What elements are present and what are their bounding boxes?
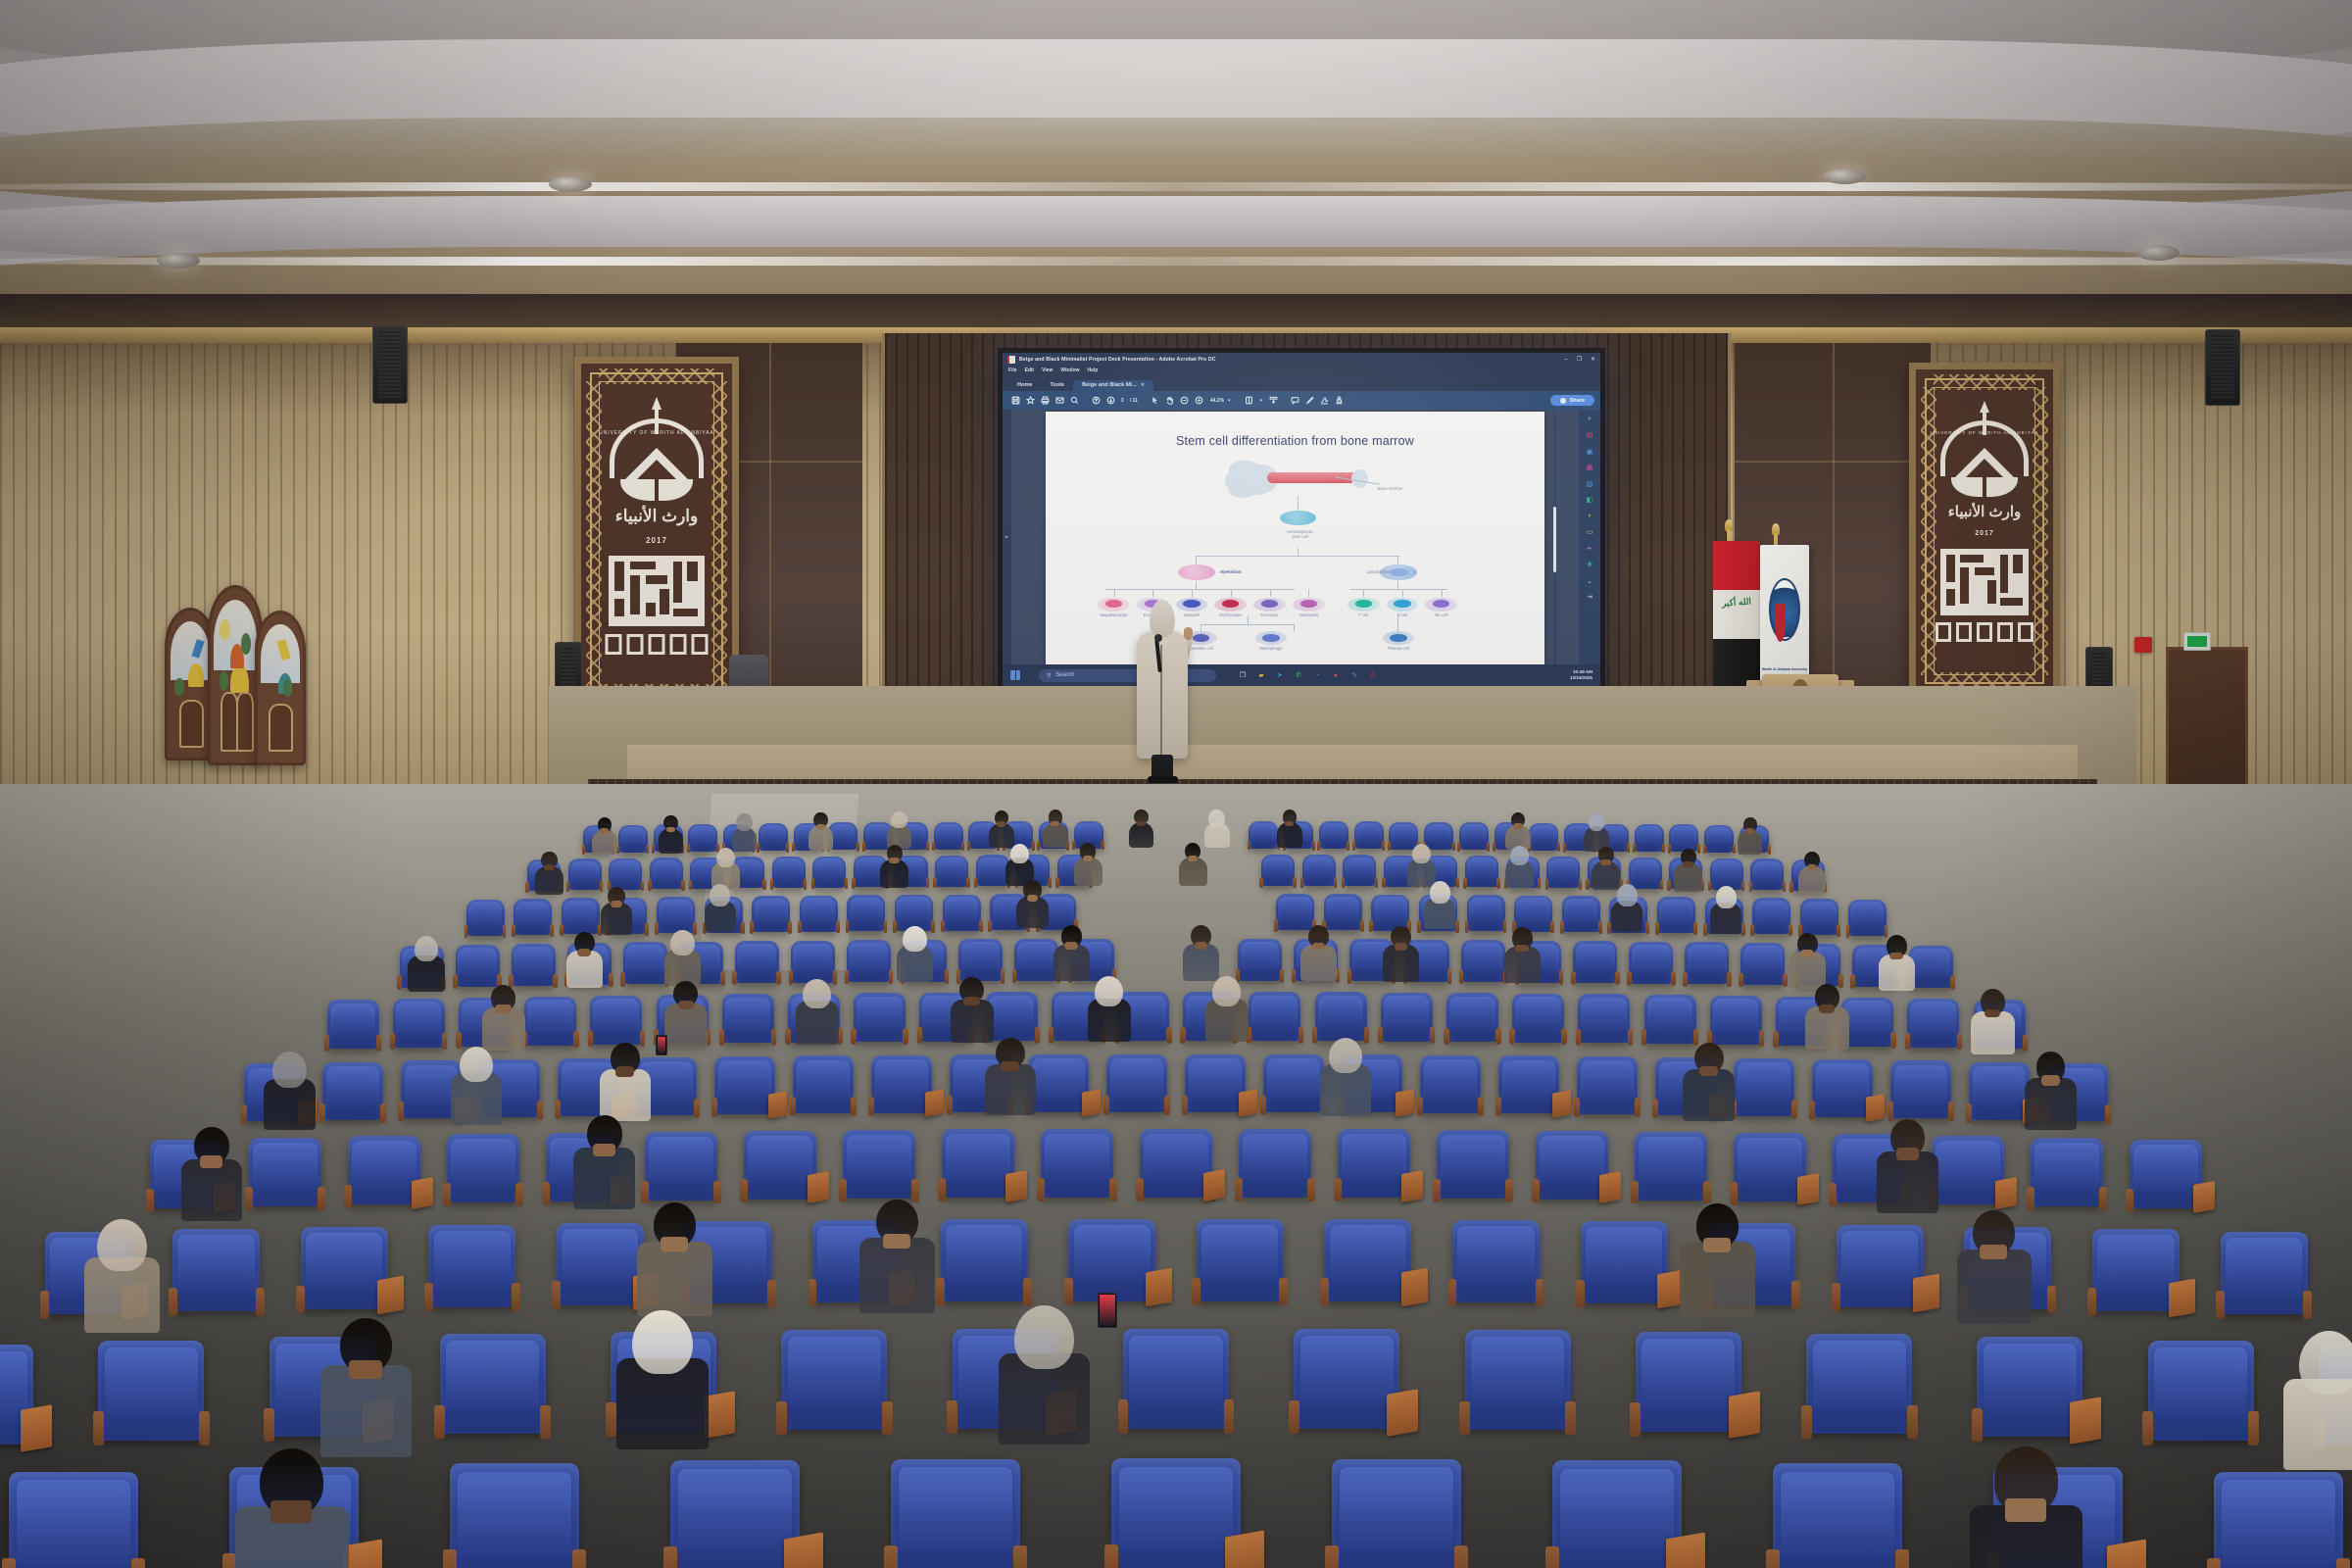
auditorium-seat[interactable] [1932,1136,2004,1204]
seat-tablet-arm[interactable] [1401,1170,1423,1202]
auditorium-seat[interactable] [1752,898,1790,934]
auditorium-seat[interactable] [1581,1221,1668,1303]
plasma-cell-nucleus [1390,634,1406,642]
auditorium-seat[interactable] [714,1056,775,1114]
auditorium-seat[interactable] [1512,994,1564,1043]
seat-tablet-arm[interactable] [1797,1173,1819,1205]
zoom-dropdown-caret-icon[interactable]: ▾ [1224,398,1235,404]
audience-phone [1098,1293,1117,1328]
audience-member-neck [1515,945,1529,952]
auditorium-seat[interactable] [1461,940,1505,982]
auditorium-seat[interactable] [1498,1055,1559,1113]
highlight-pen-icon[interactable] [1302,393,1317,408]
page-scrollbar-thumb[interactable] [1553,507,1556,573]
kufic-square-row [606,634,709,655]
auditorium-seat[interactable] [1294,1329,1399,1429]
audience-member [1804,984,1850,1051]
seat-tablet-arm[interactable] [768,1091,787,1118]
stamp-tool-icon[interactable]: ❀ [1584,559,1596,571]
seat-tablet-arm[interactable] [1866,1094,1885,1121]
pdf-page: Stem cell differentiation from bone marr… [1046,412,1545,664]
audience-member-neck [1889,953,1903,959]
audience-member-torso [859,1238,935,1313]
seat-tablet-arm[interactable] [377,1276,404,1315]
adobe-acrobat-icon[interactable]: A [1367,669,1379,681]
chrome-icon[interactable]: ● [1330,669,1342,681]
auditorium-seat[interactable] [1577,1056,1638,1114]
seat-tablet-arm[interactable] [1239,1089,1257,1116]
slide-title: Stem cell differentiation from bone marr… [1046,434,1545,448]
page-display-icon[interactable] [1242,393,1256,408]
auditorium-seat[interactable] [735,941,779,983]
stamp-icon[interactable] [1332,393,1347,408]
audience-member-hijab [1716,886,1737,907]
auditorium-seat[interactable] [1459,822,1489,850]
audience-member-torso [601,903,632,934]
auditorium-seat[interactable] [1239,1129,1311,1198]
auditorium-seat[interactable] [1249,992,1300,1041]
auditorium-seat[interactable] [512,944,556,986]
tab-home[interactable]: Home [1008,380,1042,391]
auditorium-seat[interactable] [1750,858,1784,890]
auditorium-seat[interactable] [1315,992,1367,1041]
auditorium-seat[interactable] [609,858,642,890]
auditorium-seat[interactable] [514,899,552,935]
hand-tool-icon[interactable] [1162,393,1177,408]
audience-member-hijab [632,1310,693,1374]
seat-tablet-arm[interactable] [1082,1089,1101,1116]
kufic-calligraphy-block [1940,549,2029,615]
university-crest-panel: UNIVERSITY OF WARITH AL-ANBIYAA وارث الأ… [1909,363,2060,700]
minimize-button[interactable]: – [1564,357,1567,363]
auditorium-seat[interactable] [1837,1225,1924,1307]
audience-member-neck [666,827,675,832]
search-tool-icon[interactable]: ⌕ [1584,413,1596,425]
auditorium-seat[interactable] [618,825,648,853]
audience-member-hijab [1589,813,1605,831]
auditorium-seat[interactable] [1324,1219,1411,1301]
exit-door[interactable] [2166,647,2248,800]
auditorium-seat[interactable] [657,897,695,933]
audience-member [1970,989,2016,1055]
auditorium-seat[interactable] [854,993,906,1042]
university-crest-panel: UNIVERSITY OF WARITH AL-ANBIYAA وارث الأ… [574,357,739,711]
auditorium-seat[interactable] [1354,821,1384,849]
auditorium-seat[interactable] [1773,1463,1902,1568]
audience-member-torso [1043,823,1068,849]
auditorium-seat[interactable] [1332,1459,1461,1568]
seat-tablet-arm[interactable] [1146,1268,1172,1307]
auditorium-seat[interactable] [1123,1329,1229,1429]
auditorium-seat[interactable] [800,896,838,932]
bookmark-star-icon[interactable] [1023,393,1038,408]
wall-trim-top [0,294,2352,327]
audience-member [1709,886,1742,934]
auditorium-seat[interactable] [590,996,642,1045]
menu-window[interactable]: Window [1060,367,1079,373]
auditorium-seat[interactable] [1800,899,1838,935]
seat-tablet-arm[interactable] [1552,1090,1571,1117]
lymphoblast-nucleus [1390,568,1407,576]
auditorium-seat[interactable] [1890,1060,1951,1118]
collapse-panel-icon[interactable]: ⇥ [1584,591,1596,604]
audience-member-hijab [1014,1305,1075,1369]
seat-tablet-arm[interactable] [2070,1396,2101,1445]
auditorium-seat[interactable] [1106,1054,1167,1112]
auditorium-seat[interactable] [1629,942,1673,984]
audience-member [983,1038,1038,1117]
tab-close-icon[interactable]: ✕ [1141,382,1145,388]
auditorium-seat[interactable] [1704,825,1734,853]
audience-member-neck [577,949,591,955]
zoom-out-icon[interactable] [1177,393,1192,408]
seat-tablet-arm[interactable] [1599,1171,1621,1203]
auditorium-seat[interactable] [98,1341,204,1441]
auditorium-seat[interactable] [1734,1058,1794,1116]
whatsapp-icon[interactable]: ✆ [1293,669,1304,681]
nk-cell-label: NK cell [1411,612,1471,617]
auditorium-seat[interactable] [1467,895,1505,931]
audience-member-neck [1285,821,1294,826]
auditorium-seat[interactable] [1302,855,1336,886]
auditorium-seat[interactable] [1710,858,1743,890]
auditorium-seat[interactable] [623,942,667,984]
comment-icon[interactable] [1288,393,1302,408]
audience-member [1503,927,1543,983]
auditorium-seat[interactable] [1465,856,1498,887]
audience-member [598,1043,653,1122]
auditorium-seat[interactable] [393,999,445,1048]
auditorium-seat[interactable] [1140,1129,1212,1198]
auditorium-seat[interactable] [791,941,835,983]
save-icon[interactable] [1008,393,1023,408]
print-icon[interactable] [1038,393,1053,408]
audience-member [704,884,737,932]
auditorium-seat[interactable] [942,1129,1014,1198]
auditorium-seat[interactable] [1338,1129,1410,1198]
export-pdf-icon[interactable]: ▤ [1584,429,1596,442]
audience-member-neck [2041,1075,2060,1086]
auditorium-seat[interactable] [1371,895,1409,931]
auditorium-seat[interactable] [2148,1341,2254,1441]
zoom-level-value[interactable]: 44.2% [1206,398,1224,404]
auditorium-seat[interactable] [941,1219,1028,1301]
auditorium-seat[interactable] [9,1472,138,1568]
audience-member [808,812,834,851]
maximize-button[interactable]: ❐ [1577,357,1582,363]
tab-document-label: Beige and Black Mi... [1082,382,1137,388]
taskbar-clock[interactable]: 10:49 AM 12/16/2025 [1570,669,1592,680]
auditorium-seat[interactable] [1635,824,1664,852]
tab-tools[interactable]: Tools [1042,380,1074,391]
auditorium-seat[interactable] [1437,1130,1509,1199]
select-cursor-icon[interactable] [1148,393,1162,408]
menu-bar: File Edit View Window Help [1003,366,1600,375]
auditorium-seat[interactable] [1907,999,1959,1048]
audience-member [2280,1331,2352,1471]
auditorium-seat[interactable] [1644,995,1696,1044]
auditorium-seat[interactable] [895,895,933,931]
auditorium-seat[interactable] [934,822,963,850]
auditorium-seat[interactable] [1546,857,1580,888]
audience-member-hijab [1510,846,1529,865]
auditorium-seat[interactable] [744,1131,816,1200]
auditorium-seat[interactable] [1734,1133,1806,1201]
audience-member-torso [592,830,617,856]
ceiling-spotlight [2136,245,2180,261]
zoom-search-icon[interactable] [1067,393,1082,408]
auditorium-seat[interactable] [847,895,885,931]
pdf-page-area[interactable]: Stem cell differentiation from bone marr… [1011,410,1579,664]
share-button-label: Share [1569,398,1585,404]
bone-marrow-illustration [1225,465,1365,495]
auditorium-seat[interactable] [1197,1219,1284,1301]
close-button[interactable]: ✕ [1591,357,1595,363]
auditorium-seat[interactable] [466,900,505,936]
audience-member-torso [1074,857,1102,886]
auditorium-seat[interactable] [1185,1054,1246,1112]
fit-width-icon[interactable] [1266,393,1281,408]
auditorium-seat[interactable] [456,945,500,987]
auditorium-seat[interactable] [1111,1458,1241,1568]
audience-member-neck [1395,943,1408,950]
seat-tablet-arm[interactable] [1396,1089,1414,1116]
seat-tablet-arm[interactable] [2169,1278,2195,1317]
auditorium-seat[interactable] [301,1227,388,1309]
auditorium-seat[interactable] [1977,1337,2082,1437]
seat-tablet-arm[interactable] [784,1533,823,1568]
share-button[interactable]: Share [1550,395,1594,406]
auditorium-seat[interactable] [1261,855,1295,886]
organize-pages-icon[interactable]: ▧ [1584,477,1596,490]
menu-view[interactable]: View [1042,367,1053,373]
audience-member-torso [985,1064,1037,1116]
audience-member-hijab [710,884,730,906]
audience-member [879,845,909,888]
seat-tablet-arm[interactable] [808,1171,829,1203]
auditorium-seat[interactable] [2221,1232,2308,1314]
audience-member-neck [2005,1498,2046,1521]
expand-more-icon[interactable]: ⌄ [1584,574,1596,587]
seat-tablet-arm[interactable] [1666,1533,1705,1568]
audience-member-neck [1064,942,1078,949]
audience-member [1737,817,1763,856]
auditorium-seat[interactable] [1657,897,1695,933]
audience-member-neck [593,1144,615,1156]
auditorium-seat[interactable] [793,1055,854,1113]
auditorium-seat[interactable] [327,1000,379,1049]
auditorium-seat[interactable] [2130,1140,2202,1208]
auditorium-seat[interactable] [1068,1219,1155,1301]
auditorium-seat[interactable] [1319,821,1348,849]
auditorium-seat[interactable] [650,857,683,889]
auditorium-seat[interactable] [1969,1062,2030,1120]
auditorium-seat[interactable] [1552,1460,1682,1568]
menu-edit[interactable]: Edit [1025,367,1034,373]
auditorium-seat[interactable] [428,1225,515,1307]
auditorium-seat[interactable] [524,997,576,1046]
auditorium-seat[interactable] [943,895,981,931]
page-display-caret-icon[interactable]: ▾ [1256,398,1267,404]
comment-tool-icon[interactable]: ▭ [1584,526,1596,539]
task-view-icon[interactable]: ❐ [1237,669,1249,681]
menu-file[interactable]: File [1008,367,1017,373]
audience-member [1178,843,1208,886]
university-flag-caption: Warith Al-Anbiyaa University [1760,667,1809,671]
auditorium-seat[interactable] [1536,1131,1608,1200]
auditorium-seat[interactable] [1578,994,1630,1043]
audience-member-neck [1800,950,1814,956]
combine-files-icon[interactable]: ▦ [1584,462,1596,474]
window-title: Beige and Black Minimalist Project Deck … [1019,357,1216,363]
auditorium-seat[interactable] [450,1463,579,1568]
audience-member-hijab [1617,884,1638,906]
seat-tablet-arm[interactable] [21,1404,52,1452]
current-page-number[interactable]: 3 [1118,398,1127,404]
auditorium-seat[interactable] [1446,993,1498,1042]
auditorium-seat[interactable] [1041,1129,1113,1198]
auditorium-seat[interactable] [2092,1229,2180,1311]
fire-alarm-button[interactable] [2134,637,2152,653]
auditorium-seat[interactable] [1249,821,1278,849]
file-explorer-icon[interactable]: ▰ [1255,669,1267,681]
auditorium-seat[interactable] [752,896,790,932]
presenter [1133,588,1192,784]
auditorium-seat[interactable] [447,1134,519,1202]
auditorium-seat[interactable] [1562,896,1600,932]
left-panel-toggle[interactable]: ▸ [1003,410,1011,664]
audience-member-neck [1312,943,1326,950]
audience-member-torso [1971,1011,2014,1054]
seat-tablet-arm[interactable] [1203,1169,1225,1201]
auditorium-seat[interactable] [1452,1220,1540,1302]
auditorium-seat[interactable] [348,1136,420,1204]
auditorium-seat[interactable] [1573,941,1617,983]
auditorium-seat[interactable] [871,1055,932,1113]
audience-member-neck [889,857,900,863]
ceiling-speaker [372,325,408,404]
sign-icon[interactable] [1317,393,1332,408]
audience-member [1788,933,1827,989]
audience-member [1682,1043,1737,1122]
seat-tablet-arm[interactable] [1913,1273,1939,1312]
editor-icon[interactable]: ✎ [1348,669,1360,681]
search-icon: ⚲ [1047,672,1051,679]
audience-member-neck [615,1066,634,1077]
windows-start-icon[interactable] [1010,670,1020,680]
auditorium-seat[interactable] [781,1330,887,1430]
telegram-icon[interactable]: ➤ [1274,669,1286,681]
auditorium-seat[interactable] [891,1459,1020,1568]
auditorium-seat[interactable] [2031,1138,2103,1206]
auditorium-seat[interactable] [1685,942,1729,984]
auditorium-seat[interactable] [722,994,774,1043]
fill-sign-icon[interactable]: ◗ [1584,510,1596,522]
auditorium-seat[interactable] [1238,939,1282,981]
kufic-calligraphy-block [609,556,705,626]
auditorium-seat[interactable] [1806,1334,1912,1434]
auditorium-seat[interactable] [1465,1330,1571,1430]
protect-icon[interactable]: ◧ [1584,494,1596,507]
auditorium-seat[interactable] [322,1062,383,1120]
auditorium-seat[interactable] [847,940,891,982]
seat-tablet-arm[interactable] [925,1090,944,1117]
seat-tablet-arm[interactable] [1401,1268,1428,1307]
decorative-arch-panel [255,611,306,765]
auditorium-seat[interactable] [1636,1332,1741,1432]
zoom-in-icon[interactable] [1192,393,1206,408]
audience-member-neck [1195,942,1208,949]
auditorium-seat[interactable] [1514,896,1552,932]
tab-document[interactable]: Beige and Black Mi... ✕ [1073,380,1153,391]
macrophage-label: Macrophage [1241,646,1300,651]
auditorium-seat[interactable] [1848,900,1886,936]
auditorium-seat[interactable] [2214,1472,2343,1568]
next-page-icon[interactable] [1103,393,1118,408]
auditorium-seat[interactable] [568,858,602,890]
auditorium-seat[interactable] [562,898,600,934]
auditorium-seat[interactable] [645,1132,717,1200]
email-icon[interactable] [1053,393,1067,408]
auditorium-seat[interactable] [557,1223,644,1305]
auditorium-seat[interactable] [440,1334,546,1434]
seat-tablet-arm[interactable] [2193,1181,2215,1213]
auditorium-seat[interactable] [1740,943,1785,985]
auditorium-seat[interactable] [1812,1059,1873,1117]
auditorium-seat[interactable] [1635,1132,1707,1200]
auditorium-seat[interactable] [1263,1054,1324,1112]
audience-member [480,985,526,1052]
projection-screen: Beige and Black Minimalist Project Deck … [998,348,1605,691]
seat-tablet-arm[interactable] [1225,1530,1264,1568]
auditorium-seat[interactable] [249,1138,321,1206]
seat-tablet-arm[interactable] [1729,1391,1760,1439]
auditorium-seat[interactable] [1710,996,1762,1045]
auditorium-seat[interactable] [772,857,806,888]
audience-member [1299,925,1339,981]
edge-icon[interactable]: ◔ [1311,669,1323,681]
seat-tablet-arm[interactable] [412,1177,433,1209]
audience-member [1875,1119,1940,1213]
microphone-head [1154,634,1162,642]
seat-tablet-arm[interactable] [1005,1170,1027,1202]
auditorium-seat[interactable] [843,1130,915,1199]
auditorium-seat[interactable] [759,823,788,851]
auditorium-seat[interactable] [812,857,846,888]
university-arabic-name: وارث الأنبياء [581,507,732,526]
myeloblast-cell [1178,564,1215,580]
audience-member-neck [1984,1009,2000,1018]
audience-member-torso [1957,1249,2033,1325]
audience-member-torso [1879,955,1915,991]
auditorium-seat[interactable] [1420,1055,1481,1113]
edit-pdf-icon[interactable]: ✒ [1584,542,1596,555]
seat-tablet-arm[interactable] [1995,1177,2017,1209]
audience-member-neck [678,1001,694,1009]
auditorium-seat[interactable] [172,1229,260,1311]
audience-member [1086,976,1132,1043]
create-pdf-icon[interactable]: ▣ [1584,445,1596,458]
auditorium-seat[interactable] [1381,993,1433,1042]
previous-page-icon[interactable] [1089,393,1103,408]
auditorium-seat[interactable] [670,1460,800,1568]
auditorium-seat[interactable] [958,939,1003,981]
seat-tablet-arm[interactable] [1387,1389,1418,1437]
auditorium-seat[interactable] [1343,855,1376,886]
menu-help[interactable]: Help [1088,367,1099,373]
audience-member-hijab [1430,881,1450,903]
auditorium-seat[interactable] [935,856,968,887]
